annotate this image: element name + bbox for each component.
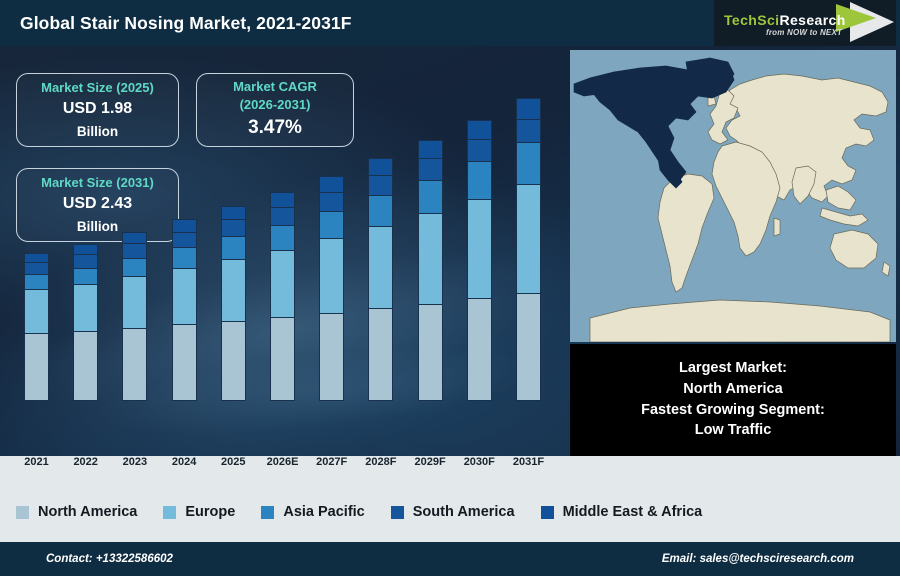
- bar-segment-europe: [24, 289, 49, 333]
- bar-column-2022: [73, 244, 98, 401]
- bar-segment-north-america: [516, 293, 541, 401]
- bar-segment-europe: [418, 213, 443, 303]
- bar-segment-asia-pacific: [516, 142, 541, 184]
- bar-segment-europe: [172, 268, 197, 325]
- bar-column-2026E: [270, 192, 295, 401]
- map-land-madagascar: [774, 218, 780, 236]
- legend-item-south-america[interactable]: South America: [391, 504, 515, 520]
- infographic-root: Global Stair Nosing Market, 2021-2031F T…: [0, 0, 900, 576]
- bar-segment-middle-east-africa: [122, 232, 147, 243]
- legend-label: North America: [38, 504, 137, 520]
- key-insights-callout: Largest Market: North America Fastest Gr…: [570, 344, 896, 456]
- bar-segment-europe: [221, 259, 246, 321]
- bar-segment-south-america: [270, 207, 295, 225]
- bar-segment-asia-pacific: [172, 247, 197, 267]
- x-axis-label-2026E: 2026E: [260, 456, 306, 468]
- bar-segment-asia-pacific: [467, 161, 492, 198]
- bar-segment-north-america: [122, 328, 147, 401]
- legend-item-middle-east-africa[interactable]: Middle East & Africa: [541, 504, 703, 520]
- bar-column-2021: [24, 253, 49, 401]
- bar-segment-south-america: [516, 119, 541, 143]
- logo-tagline: from NOW to NEXT: [766, 28, 842, 37]
- bar-segment-middle-east-africa: [221, 206, 246, 220]
- bar-segment-asia-pacific: [24, 274, 49, 289]
- bar-segment-north-america: [467, 298, 492, 401]
- bar-segment-europe: [319, 238, 344, 313]
- bar-segment-asia-pacific: [221, 236, 246, 259]
- bar-segment-middle-east-africa: [418, 140, 443, 158]
- bar-column-2027F: [319, 176, 344, 401]
- bar-segment-south-america: [73, 254, 98, 268]
- x-axis-label-2028F: 2028F: [358, 456, 404, 468]
- bar-segment-south-america: [172, 232, 197, 248]
- legend-label: Asia Pacific: [283, 504, 364, 520]
- legend-swatch-icon: [16, 506, 29, 519]
- bar-segment-north-america: [73, 331, 98, 401]
- techsci-research-logo: TechSciResearch from NOW to NEXT: [714, 0, 896, 46]
- bar-segment-middle-east-africa: [368, 158, 393, 175]
- bar-segment-asia-pacific: [418, 180, 443, 214]
- stacked-bar-chart: [0, 46, 570, 456]
- bar-segment-europe: [516, 184, 541, 292]
- x-axis-labels: 202120222023202420252026E2027F2028F2029F…: [0, 456, 570, 478]
- x-axis-label-2030F: 2030F: [456, 456, 502, 468]
- bar-segment-middle-east-africa: [24, 253, 49, 262]
- bar-segment-europe: [270, 250, 295, 318]
- x-axis-label-2031F: 2031F: [506, 456, 552, 468]
- bar-segment-north-america: [368, 308, 393, 401]
- bar-segment-south-america: [467, 139, 492, 162]
- world-map-svg: [570, 50, 896, 342]
- bar-segment-north-america: [270, 317, 295, 401]
- bar-column-2031F: [516, 98, 541, 401]
- bar-segment-north-america: [319, 313, 344, 401]
- x-axis-label-2023: 2023: [112, 456, 158, 468]
- bar-segment-middle-east-africa: [270, 192, 295, 207]
- page-title: Global Stair Nosing Market, 2021-2031F: [20, 13, 352, 34]
- callout-fastest-segment-value: Low Traffic: [695, 421, 772, 441]
- bar-segment-asia-pacific: [319, 211, 344, 238]
- bar-segment-europe: [122, 276, 147, 328]
- logo-brand-research: Research: [779, 12, 845, 28]
- x-axis-label-2027F: 2027F: [309, 456, 355, 468]
- bar-column-2023: [122, 232, 147, 401]
- header-bar: Global Stair Nosing Market, 2021-2031F T…: [0, 0, 900, 46]
- x-axis-label-2024: 2024: [161, 456, 207, 468]
- bar-column-2030F: [467, 120, 492, 401]
- bar-segment-north-america: [172, 324, 197, 401]
- bar-segment-europe: [73, 284, 98, 331]
- legend-item-north-america[interactable]: North America: [16, 504, 137, 520]
- bar-segment-north-america: [221, 321, 246, 401]
- bar-segment-middle-east-africa: [319, 176, 344, 192]
- bar-segment-south-america: [319, 192, 344, 211]
- bar-segment-north-america: [24, 333, 49, 401]
- bar-segment-middle-east-africa: [172, 219, 197, 231]
- bar-segment-europe: [467, 199, 492, 298]
- bar-column-2025: [221, 206, 246, 401]
- world-map: [570, 50, 896, 342]
- bar-segment-asia-pacific: [122, 258, 147, 276]
- legend-swatch-icon: [541, 506, 554, 519]
- callout-fastest-segment-label: Fastest Growing Segment:: [641, 401, 825, 421]
- x-axis-label-2029F: 2029F: [407, 456, 453, 468]
- x-axis-label-2025: 2025: [210, 456, 256, 468]
- legend-label: Middle East & Africa: [563, 504, 703, 520]
- bar-segment-middle-east-africa: [516, 98, 541, 118]
- bar-segment-europe: [368, 226, 393, 308]
- footer-email: Email: sales@techsciresearch.com: [662, 553, 854, 565]
- callout-largest-market-value: North America: [683, 380, 782, 400]
- legend-swatch-icon: [163, 506, 176, 519]
- footer-bar: Contact: +13322586602 Email: sales@techs…: [0, 542, 900, 576]
- legend-item-asia-pacific[interactable]: Asia Pacific: [261, 504, 364, 520]
- logo-brand-tech: TechSci: [724, 12, 779, 28]
- bar-column-2029F: [418, 140, 443, 401]
- x-axis-label-2022: 2022: [63, 456, 109, 468]
- bar-segment-middle-east-africa: [73, 244, 98, 254]
- bar-column-2028F: [368, 158, 393, 401]
- bar-segment-asia-pacific: [270, 225, 295, 250]
- callout-largest-market-label: Largest Market:: [679, 359, 787, 379]
- bar-segment-south-america: [24, 262, 49, 274]
- legend-label: Europe: [185, 504, 235, 520]
- logo-wordmark: TechSciResearch: [724, 12, 846, 28]
- bar-segment-asia-pacific: [73, 268, 98, 284]
- x-axis-label-2021: 2021: [14, 456, 60, 468]
- bar-segment-north-america: [418, 304, 443, 401]
- bar-segment-south-america: [368, 175, 393, 195]
- bar-segment-south-america: [221, 219, 246, 236]
- bar-segment-middle-east-africa: [467, 120, 492, 139]
- bar-segment-south-america: [122, 243, 147, 258]
- bar-column-2024: [172, 219, 197, 401]
- footer-contact: Contact: +13322586602: [46, 553, 173, 565]
- legend-label: South America: [413, 504, 515, 520]
- legend-item-europe[interactable]: Europe: [163, 504, 235, 520]
- legend-swatch-icon: [391, 506, 404, 519]
- legend-swatch-icon: [261, 506, 274, 519]
- bar-segment-south-america: [418, 158, 443, 179]
- chart-legend: North AmericaEuropeAsia PacificSouth Ame…: [0, 492, 900, 532]
- bar-segment-asia-pacific: [368, 195, 393, 226]
